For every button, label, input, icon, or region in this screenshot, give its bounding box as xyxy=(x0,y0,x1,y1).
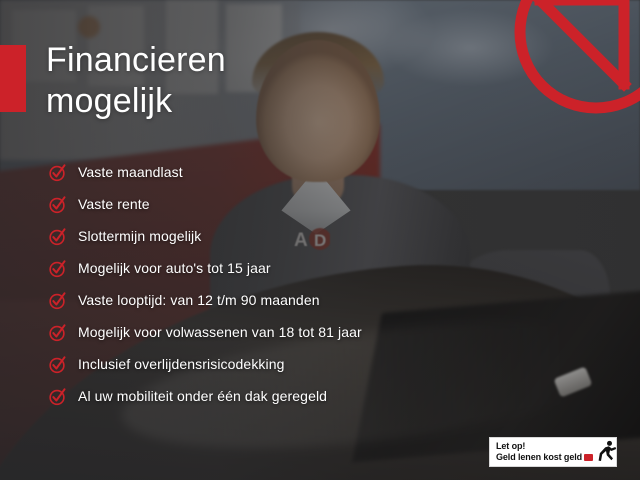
list-item: Mogelijk voor auto's tot 15 jaar xyxy=(48,252,608,284)
warning-text-block: Let op! Geld lenen kost geld xyxy=(496,441,593,464)
warning-red-bar-icon xyxy=(584,454,593,461)
list-item-label: Slottermijn mogelijk xyxy=(78,228,201,244)
list-item: Vaste rente xyxy=(48,188,608,220)
headline-line-2: mogelijk xyxy=(46,81,376,122)
check-circle-icon xyxy=(48,387,67,406)
financing-promo-banner: A D Financieren mogelijk Vaste maandlast xyxy=(0,0,640,480)
credit-warning-badge: Let op! Geld lenen kost geld xyxy=(489,437,617,467)
list-item: Mogelijk voor volwassenen van 18 tot 81 … xyxy=(48,316,608,348)
check-circle-icon xyxy=(48,291,67,310)
list-item-label: Al uw mobiliteit onder één dak geregeld xyxy=(78,388,327,404)
page-title: Financieren mogelijk xyxy=(46,40,376,123)
warning-line-1: Let op! xyxy=(496,441,593,452)
list-item-label: Vaste maandlast xyxy=(78,164,183,180)
check-circle-icon xyxy=(48,355,67,374)
headline-line-1: Financieren xyxy=(46,40,376,81)
walking-person-icon xyxy=(597,440,617,464)
list-item-label: Vaste looptijd: van 12 t/m 90 maanden xyxy=(78,292,320,308)
list-item: Vaste maandlast xyxy=(48,156,608,188)
list-item-label: Vaste rente xyxy=(78,196,150,212)
red-accent-block xyxy=(0,45,26,112)
warning-line-2: Geld lenen kost geld xyxy=(496,452,582,463)
list-item-label: Mogelijk voor auto's tot 15 jaar xyxy=(78,260,271,276)
list-item: Slottermijn mogelijk xyxy=(48,220,608,252)
check-circle-icon xyxy=(48,323,67,342)
list-item: Al uw mobiliteit onder één dak geregeld xyxy=(48,380,608,412)
check-circle-icon xyxy=(48,227,67,246)
list-item: Inclusief overlijdensrisicodekking xyxy=(48,348,608,380)
list-item: Vaste looptijd: van 12 t/m 90 maanden xyxy=(48,284,608,316)
list-item-label: Inclusief overlijdensrisicodekking xyxy=(78,356,285,372)
list-item-label: Mogelijk voor volwassenen van 18 tot 81 … xyxy=(78,324,362,340)
check-circle-icon xyxy=(48,259,67,278)
ad-autobedrijf-logo xyxy=(506,0,640,122)
check-circle-icon xyxy=(48,163,67,182)
check-circle-icon xyxy=(48,195,67,214)
benefits-checklist: Vaste maandlast Vaste rente Slottermijn … xyxy=(48,156,608,412)
warning-line-2-row: Geld lenen kost geld xyxy=(496,452,593,463)
